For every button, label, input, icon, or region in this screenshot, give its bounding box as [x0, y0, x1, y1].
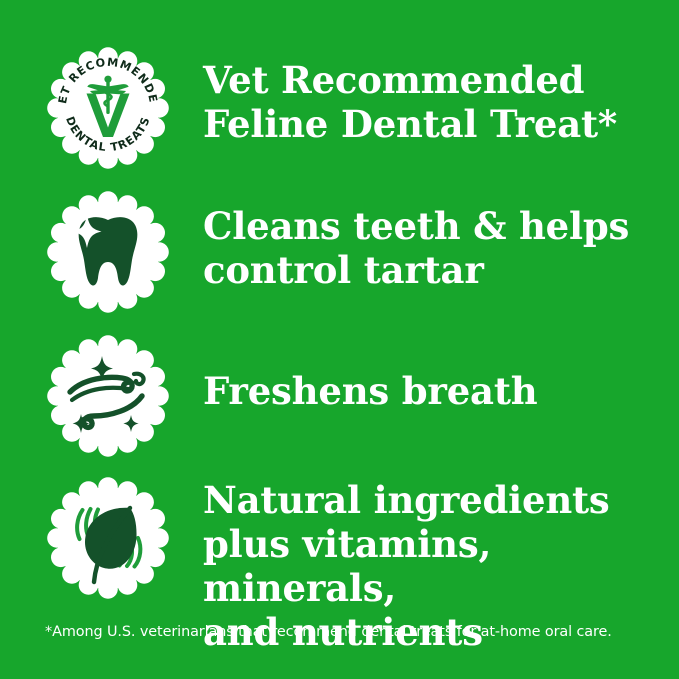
- feature-text-cleans-teeth: Cleans teeth & helps control tartar: [203, 190, 629, 292]
- leaf-icon: [46, 476, 170, 600]
- feature-row-vet-recommended: VET RECOMMENDED DENTAL TREATS: [0, 46, 679, 170]
- footnote-disclaimer: *Among U.S. veterinarians that recommend…: [45, 622, 612, 642]
- feature-text-vet-recommended: Vet Recommended Feline Dental Treat*: [203, 46, 617, 146]
- fresh-breath-swirl-icon: [46, 334, 170, 458]
- vet-recommended-seal-icon: VET RECOMMENDED DENTAL TREATS: [46, 46, 170, 170]
- badge-scallop-shape: [47, 335, 169, 457]
- product-benefits-poster: VET RECOMMENDED DENTAL TREATS: [0, 0, 679, 679]
- feature-row-cleans-teeth: Cleans teeth & helps control tartar: [0, 190, 679, 314]
- sparkling-tooth-icon: [46, 190, 170, 314]
- feature-text-freshens-breath: Freshens breath: [203, 334, 537, 413]
- feature-row-freshens-breath: Freshens breath: [0, 334, 679, 458]
